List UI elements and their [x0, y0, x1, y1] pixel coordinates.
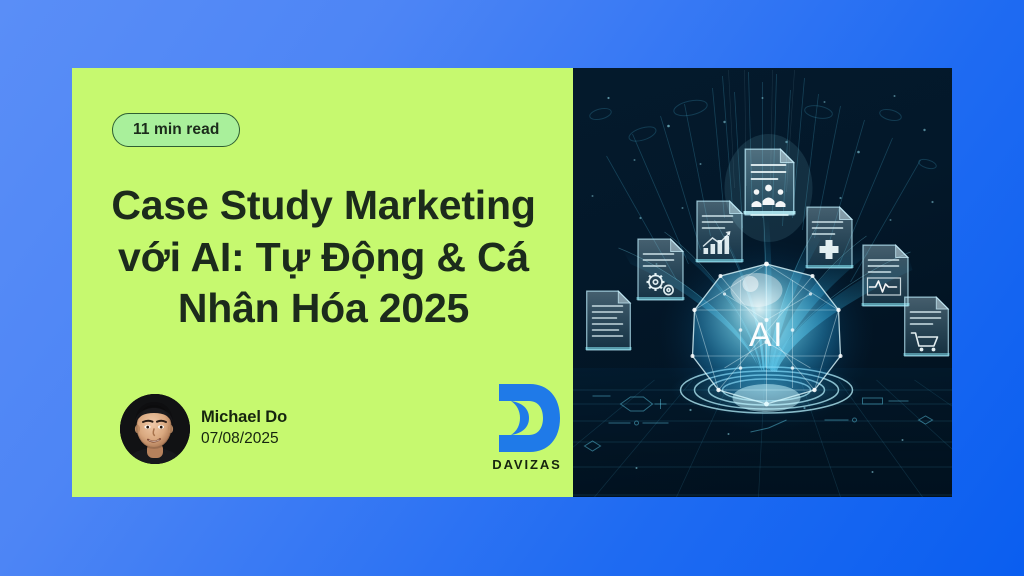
- brand-logo: DAVIZAS: [481, 380, 573, 472]
- card-text-panel: 11 min read Case Study Marketing với AI:…: [72, 68, 573, 497]
- read-time-label: 11 min read: [133, 121, 219, 139]
- document-shopping-cart-icon: [904, 297, 950, 356]
- user-avatar-photo-icon: [120, 394, 190, 464]
- author-text-block: Michael Do 07/08/2025: [201, 408, 287, 450]
- davizas-d-logo-icon: [490, 380, 564, 456]
- read-time-badge: 11 min read: [112, 113, 240, 147]
- article-hero-card: 11 min read Case Study Marketing với AI:…: [72, 68, 952, 497]
- document-text-icon: [586, 291, 632, 350]
- publish-date: 07/08/2025: [201, 430, 287, 448]
- brand-name: DAVIZAS: [492, 457, 561, 472]
- page-title: Case Study Marketing với AI: Tự Động & C…: [86, 180, 561, 335]
- ai-data-network-illustration: AI: [573, 68, 952, 497]
- document-heartbeat-icon: [862, 245, 910, 306]
- author-row: Michael Do 07/08/2025: [120, 394, 287, 464]
- document-org-chart-icon: [725, 134, 813, 242]
- avatar: [120, 394, 190, 464]
- hero-image-panel: AI: [573, 68, 952, 497]
- ai-label: AI: [749, 316, 784, 354]
- author-name: Michael Do: [201, 408, 287, 427]
